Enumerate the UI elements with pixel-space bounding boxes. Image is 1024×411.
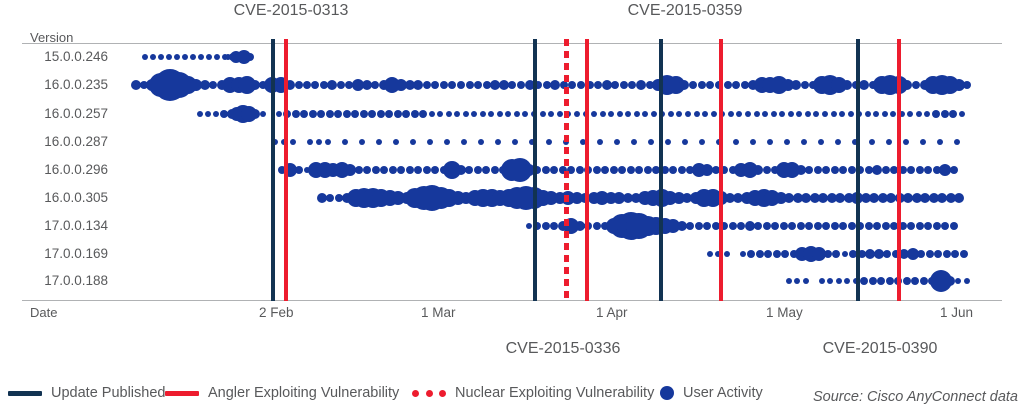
activity-dot bbox=[482, 166, 490, 174]
activity-dot bbox=[597, 139, 603, 145]
legend-item-update-published: Update Published bbox=[8, 385, 165, 401]
activity-dot bbox=[342, 139, 348, 145]
activity-dot bbox=[886, 139, 892, 145]
activity-dot bbox=[678, 166, 686, 174]
activity-dot bbox=[461, 139, 467, 145]
activity-dot bbox=[414, 166, 422, 174]
activity-dot bbox=[608, 111, 614, 117]
activity-dot bbox=[917, 250, 925, 258]
activity-dot bbox=[839, 166, 847, 174]
activity-dot bbox=[814, 222, 822, 230]
activity-dot bbox=[427, 139, 433, 145]
activity-dot bbox=[728, 111, 734, 117]
activity-dot bbox=[600, 111, 606, 117]
activity-dot bbox=[941, 110, 949, 118]
activity-dot bbox=[150, 54, 156, 60]
angler-exploit-line-cve-2015-0313 bbox=[284, 39, 288, 301]
activity-dot bbox=[634, 111, 640, 117]
activity-dot bbox=[703, 222, 711, 230]
activity-dot bbox=[883, 250, 891, 258]
cve-label-cve-2015-0336: CVE-2015-0336 bbox=[506, 340, 621, 358]
activity-dot bbox=[548, 111, 554, 117]
activity-dot bbox=[732, 81, 740, 89]
activity-dot bbox=[773, 250, 781, 258]
activity-dot bbox=[686, 222, 694, 230]
x-axis-header: Date bbox=[30, 305, 57, 320]
activity-dot bbox=[943, 250, 951, 258]
legend-item-nuclear: Nuclear Exploiting Vulnerability bbox=[412, 385, 654, 401]
activity-dot bbox=[326, 110, 334, 118]
activity-dot bbox=[945, 276, 955, 286]
activity-dot bbox=[835, 139, 841, 145]
activity-dot bbox=[325, 139, 331, 145]
activity-dot bbox=[771, 222, 779, 230]
activity-dot bbox=[699, 139, 705, 145]
activity-dot bbox=[842, 251, 848, 257]
activity-dot bbox=[822, 166, 830, 174]
activity-dot bbox=[355, 166, 363, 174]
activity-dot bbox=[949, 110, 957, 118]
activity-dot bbox=[848, 222, 856, 230]
activity-dot bbox=[805, 166, 813, 174]
activity-dot bbox=[831, 111, 837, 117]
activity-dot bbox=[832, 250, 840, 258]
activity-dot bbox=[737, 222, 745, 230]
activity-dot bbox=[702, 111, 708, 117]
activity-dot bbox=[343, 110, 351, 118]
activity-dot bbox=[209, 81, 217, 89]
activity-dot bbox=[446, 111, 452, 117]
activity-dot bbox=[797, 222, 805, 230]
legend-label: Update Published bbox=[51, 385, 165, 401]
activity-dot bbox=[359, 139, 365, 145]
activity-dot bbox=[724, 251, 730, 257]
activity-dot bbox=[836, 278, 842, 284]
activity-dot bbox=[791, 80, 801, 90]
activity-dot bbox=[916, 222, 924, 230]
activity-dot bbox=[920, 277, 928, 285]
activity-dot bbox=[941, 222, 949, 230]
activity-dot bbox=[754, 111, 760, 117]
activity-dot bbox=[311, 81, 319, 89]
activity-dot bbox=[689, 81, 697, 89]
activity-dot bbox=[142, 54, 148, 60]
activity-dot bbox=[801, 139, 807, 145]
activity-dot bbox=[780, 222, 788, 230]
activity-dot bbox=[526, 223, 532, 229]
activity-dot bbox=[786, 278, 792, 284]
activity-dot bbox=[628, 81, 636, 89]
activity-dot bbox=[300, 110, 308, 118]
activity-dot bbox=[337, 81, 345, 89]
activity-dot bbox=[593, 166, 601, 174]
activity-dot bbox=[303, 81, 311, 89]
activity-dot bbox=[886, 277, 894, 285]
update-published-line-cve-2015-0336 bbox=[533, 39, 537, 301]
activity-dot bbox=[372, 166, 380, 174]
activity-dot bbox=[831, 222, 839, 230]
activity-dot bbox=[463, 111, 469, 117]
activity-dot bbox=[317, 110, 325, 118]
activity-dot bbox=[197, 111, 203, 117]
activity-dot bbox=[550, 80, 560, 90]
activity-dot bbox=[745, 111, 751, 117]
activity-dot bbox=[839, 111, 845, 117]
activity-dot bbox=[190, 54, 196, 60]
chart-plot-area: Version Date 15.0.0.24616.0.0.23516.0.0.… bbox=[0, 0, 1024, 411]
activity-dot bbox=[522, 111, 528, 117]
activity-dot bbox=[465, 166, 473, 174]
activity-dot bbox=[924, 222, 932, 230]
activity-dot bbox=[819, 278, 825, 284]
activity-dot bbox=[512, 139, 518, 145]
x-tick-1-mar: 1 Mar bbox=[421, 305, 456, 320]
activity-dot bbox=[437, 111, 443, 117]
activity-dot bbox=[497, 111, 503, 117]
activity-dot bbox=[593, 222, 601, 230]
activity-dot bbox=[668, 111, 674, 117]
activity-dot bbox=[877, 277, 885, 285]
activity-dot bbox=[762, 111, 768, 117]
activity-dot bbox=[214, 54, 220, 60]
activity-dot bbox=[960, 250, 968, 258]
cve-label-cve-2015-0390: CVE-2015-0390 bbox=[823, 340, 938, 358]
activity-dot bbox=[508, 81, 516, 89]
activity-dot bbox=[377, 110, 385, 118]
activity-dot bbox=[679, 80, 689, 90]
activity-dot bbox=[954, 139, 960, 145]
activity-dot bbox=[618, 166, 626, 174]
y-axis-label-16-0-0-287: 16.0.0.287 bbox=[22, 134, 108, 149]
activity-dot bbox=[831, 166, 839, 174]
activity-dot bbox=[959, 111, 965, 117]
blue-circle-icon bbox=[660, 386, 674, 400]
x-tick-1-apr: 1 Apr bbox=[596, 305, 628, 320]
activity-dot bbox=[907, 222, 915, 230]
red-line-icon bbox=[165, 391, 199, 396]
activity-dot bbox=[882, 166, 890, 174]
activity-dot bbox=[546, 139, 552, 145]
activity-dot bbox=[932, 110, 940, 118]
activity-dot bbox=[814, 166, 822, 174]
activity-dot bbox=[920, 139, 926, 145]
activity-dot bbox=[419, 110, 427, 118]
activity-dot bbox=[568, 81, 576, 89]
y-axis-label-16-0-0-257: 16.0.0.257 bbox=[22, 106, 108, 121]
x-tick-2-feb: 2 Feb bbox=[259, 305, 294, 320]
red-dotted-line-icon bbox=[412, 390, 446, 397]
activity-dot bbox=[750, 139, 756, 145]
activity-dot bbox=[754, 222, 762, 230]
activity-dot bbox=[213, 111, 219, 117]
activity-dot bbox=[685, 111, 691, 117]
y-axis-label-17-0-0-134: 17.0.0.134 bbox=[22, 218, 108, 233]
legend-label: Angler Exploiting Vulnerability bbox=[208, 385, 399, 401]
activity-dot bbox=[860, 277, 868, 285]
legend-label: Nuclear Exploiting Vulnerability bbox=[455, 385, 654, 401]
activity-dot bbox=[376, 139, 382, 145]
activity-dot bbox=[380, 166, 388, 174]
activity-dot bbox=[865, 111, 871, 117]
activity-dot bbox=[601, 166, 609, 174]
activity-dot bbox=[767, 139, 773, 145]
cve-label-cve-2015-0359: CVE-2015-0359 bbox=[628, 2, 743, 20]
activity-dot bbox=[933, 222, 941, 230]
activity-dot bbox=[326, 194, 334, 202]
angler-exploit-line-cve-2015-0390 bbox=[897, 39, 901, 301]
activity-dot bbox=[617, 111, 623, 117]
activity-dot bbox=[736, 111, 742, 117]
activity-dot bbox=[796, 111, 802, 117]
activity-dot bbox=[740, 251, 746, 257]
activity-dot bbox=[698, 81, 706, 89]
activity-dot bbox=[747, 250, 755, 258]
activity-dot bbox=[440, 81, 448, 89]
activity-dot bbox=[873, 222, 881, 230]
activity-dot bbox=[763, 166, 771, 174]
activity-dot bbox=[290, 139, 296, 145]
activity-dot bbox=[916, 166, 924, 174]
activity-dot bbox=[363, 166, 371, 174]
legend-item-angler: Angler Exploiting Vulnerability bbox=[165, 385, 399, 401]
activity-dot bbox=[869, 139, 875, 145]
activity-dot bbox=[916, 111, 922, 117]
activity-dot bbox=[822, 222, 830, 230]
activity-dot bbox=[411, 110, 419, 118]
activity-dot bbox=[198, 54, 204, 60]
activity-dot bbox=[389, 166, 397, 174]
activity-dot bbox=[591, 111, 597, 117]
activity-dot bbox=[788, 111, 794, 117]
activity-dot bbox=[635, 166, 643, 174]
legend-item-user-activity: User Activity bbox=[660, 385, 763, 401]
activity-dot bbox=[429, 111, 435, 117]
activity-dot bbox=[873, 111, 879, 117]
activity-dot bbox=[471, 111, 477, 117]
activity-dot bbox=[763, 222, 771, 230]
activity-dot bbox=[934, 250, 942, 258]
activity-dot bbox=[724, 81, 732, 89]
activity-dot bbox=[848, 166, 856, 174]
activity-dot bbox=[295, 166, 303, 174]
activity-dot bbox=[385, 110, 393, 118]
activity-dot bbox=[550, 222, 558, 230]
activity-dot bbox=[614, 139, 620, 145]
activity-dot bbox=[611, 81, 619, 89]
activity-dot bbox=[951, 250, 959, 258]
activity-dot bbox=[577, 81, 585, 89]
activity-dot bbox=[859, 80, 869, 90]
activity-dot bbox=[803, 278, 809, 284]
activity-dot bbox=[410, 139, 416, 145]
cve-label-cve-2015-0313: CVE-2015-0313 bbox=[234, 2, 349, 20]
activity-dot bbox=[676, 111, 682, 117]
activity-dot bbox=[514, 111, 520, 117]
activity-dot bbox=[540, 111, 546, 117]
activity-dot bbox=[937, 139, 943, 145]
activity-dot bbox=[431, 81, 439, 89]
activity-dot bbox=[397, 166, 405, 174]
activity-dot bbox=[423, 81, 431, 89]
activity-dot bbox=[610, 166, 618, 174]
activity-dot bbox=[707, 251, 713, 257]
activity-dot bbox=[594, 81, 602, 89]
activity-dot bbox=[950, 222, 958, 230]
activity-dot bbox=[642, 111, 648, 117]
source-note: Source: Cisco AnyConnect data bbox=[813, 389, 1018, 405]
activity-dot bbox=[907, 166, 915, 174]
activity-dot bbox=[625, 111, 631, 117]
activity-dot bbox=[454, 111, 460, 117]
y-axis-label-17-0-0-169: 17.0.0.169 bbox=[22, 246, 108, 261]
activity-dot bbox=[631, 139, 637, 145]
activity-dot bbox=[474, 81, 482, 89]
update-published-line-cve-2015-0390 bbox=[856, 39, 860, 301]
activity-dot bbox=[474, 166, 482, 174]
activity-dot bbox=[478, 139, 484, 145]
activity-dot bbox=[651, 111, 657, 117]
activity-dot bbox=[406, 166, 414, 174]
y-axis-label-16-0-0-305: 16.0.0.305 bbox=[22, 190, 108, 205]
activity-dot bbox=[805, 111, 811, 117]
activity-dot bbox=[890, 111, 896, 117]
x-tick-1-may: 1 May bbox=[766, 305, 803, 320]
activity-dot bbox=[334, 110, 342, 118]
activity-dot bbox=[576, 166, 584, 174]
activity-dot bbox=[466, 81, 474, 89]
activity-dot bbox=[491, 166, 499, 174]
activity-dot bbox=[431, 166, 439, 174]
activity-dot bbox=[903, 277, 911, 285]
activity-dot bbox=[764, 250, 772, 258]
activity-dot bbox=[295, 81, 303, 89]
activity-dot bbox=[912, 81, 920, 89]
activity-dot bbox=[413, 80, 423, 90]
activity-dot bbox=[848, 111, 854, 117]
activity-dot bbox=[911, 277, 919, 285]
activity-dot bbox=[903, 139, 909, 145]
activity-dot bbox=[771, 111, 777, 117]
activity-dot bbox=[627, 166, 635, 174]
navy-line-icon bbox=[8, 391, 42, 396]
update-published-line-cve-2015-0359 bbox=[659, 39, 663, 301]
activity-dot bbox=[682, 139, 688, 145]
activity-dot bbox=[307, 139, 313, 145]
activity-dot bbox=[557, 111, 563, 117]
y-axis-label-16-0-0-296: 16.0.0.296 bbox=[22, 162, 108, 177]
activity-dot bbox=[872, 165, 882, 175]
activity-dot bbox=[839, 222, 847, 230]
activity-dot bbox=[950, 166, 958, 174]
activity-dot bbox=[924, 166, 932, 174]
activity-dot bbox=[574, 111, 580, 117]
activity-dot bbox=[423, 166, 431, 174]
activity-dot bbox=[756, 250, 764, 258]
x-tick-1-jun: 1 Jun bbox=[940, 305, 973, 320]
activity-dot bbox=[926, 250, 934, 258]
nuclear-exploit-line-cve-2015-0336 bbox=[564, 39, 569, 301]
activity-dot bbox=[620, 81, 628, 89]
activity-dot bbox=[794, 278, 800, 284]
activity-dot bbox=[902, 80, 912, 90]
activity-dot bbox=[694, 111, 700, 117]
activity-dot bbox=[788, 222, 796, 230]
legend-label: User Activity bbox=[683, 385, 763, 401]
activity-dot bbox=[351, 110, 359, 118]
activity-dot bbox=[665, 139, 671, 145]
top-axis-rule bbox=[22, 43, 1002, 44]
activity-dot bbox=[402, 110, 410, 118]
activity-dot bbox=[779, 111, 785, 117]
activity-dot bbox=[542, 166, 550, 174]
activity-dot bbox=[882, 111, 888, 117]
activity-dot bbox=[882, 222, 890, 230]
activity-dot bbox=[907, 111, 913, 117]
activity-dot bbox=[729, 222, 737, 230]
activity-dot bbox=[644, 166, 652, 174]
activity-dot bbox=[824, 250, 832, 258]
activity-dot bbox=[711, 111, 717, 117]
activity-dot bbox=[360, 110, 368, 118]
angler-exploit-line-cve-2015-0359 bbox=[719, 39, 723, 301]
activity-dot bbox=[276, 111, 282, 117]
activity-dot bbox=[733, 139, 739, 145]
activity-dot bbox=[842, 80, 852, 90]
activity-dot bbox=[924, 111, 930, 117]
activity-dot bbox=[444, 139, 450, 145]
activity-dot bbox=[393, 139, 399, 145]
y-axis-label-16-0-0-235: 16.0.0.235 bbox=[22, 77, 108, 92]
activity-dot bbox=[166, 54, 172, 60]
activity-dot bbox=[818, 139, 824, 145]
activity-dot bbox=[517, 81, 525, 89]
activity-dot bbox=[669, 166, 677, 174]
activity-dot bbox=[954, 193, 964, 203]
activity-dot bbox=[781, 250, 789, 258]
activity-dot bbox=[964, 278, 970, 284]
activity-dot bbox=[869, 277, 877, 285]
activity-dot bbox=[827, 278, 833, 284]
activity-dot bbox=[158, 54, 164, 60]
activity-dot bbox=[260, 111, 266, 117]
y-axis-label-17-0-0-188: 17.0.0.188 bbox=[22, 273, 108, 288]
activity-dot bbox=[648, 139, 654, 145]
activity-dot bbox=[963, 81, 971, 89]
activity-dot bbox=[636, 80, 646, 90]
activity-dot bbox=[174, 54, 180, 60]
activity-dot bbox=[784, 139, 790, 145]
activity-dot bbox=[550, 166, 558, 174]
activity-dot bbox=[813, 111, 819, 117]
activity-dot bbox=[822, 111, 828, 117]
activity-dot bbox=[706, 81, 714, 89]
activity-dot bbox=[495, 139, 501, 145]
activity-dot bbox=[205, 111, 211, 117]
activity-dot bbox=[309, 110, 317, 118]
activity-dot bbox=[801, 81, 809, 89]
activity-dot bbox=[182, 54, 188, 60]
update-published-line-cve-2015-0313 bbox=[271, 39, 275, 301]
activity-dot bbox=[448, 81, 456, 89]
activity-dot bbox=[505, 111, 511, 117]
activity-dot bbox=[753, 165, 763, 175]
activity-dot bbox=[805, 222, 813, 230]
activity-dot bbox=[542, 222, 550, 230]
activity-dot bbox=[480, 111, 486, 117]
activity-dot bbox=[844, 278, 850, 284]
activity-dot bbox=[865, 222, 873, 230]
bottom-axis-rule bbox=[22, 300, 1002, 301]
